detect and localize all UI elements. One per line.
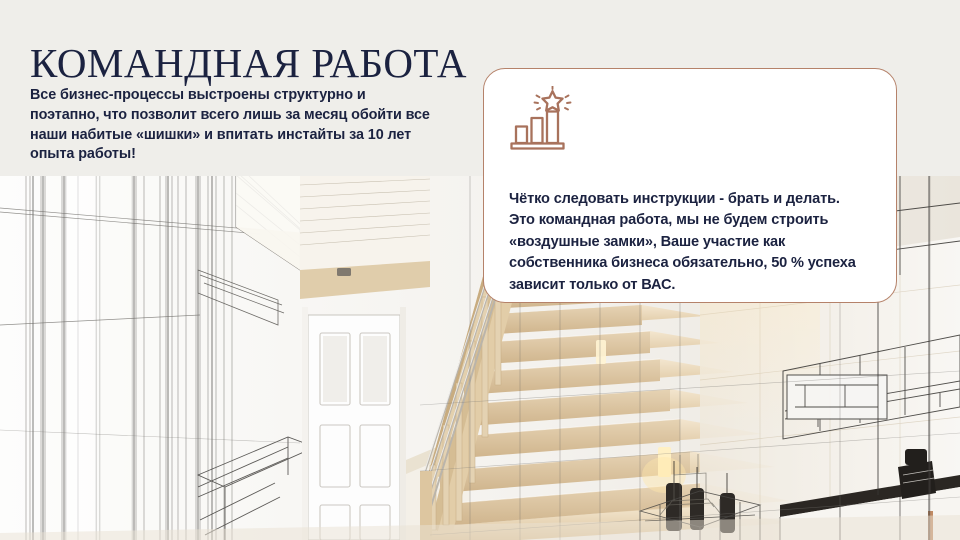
info-card: Чётко следовать инструкции - брать и дел… [483,68,897,303]
slide-root: КОМАНДНАЯ РАБОТА Все бизнес-процессы выс… [0,0,960,540]
lead-paragraph: Все бизнес-процессы выстроены структурно… [30,86,430,164]
growth-bar-chart-star-icon [507,86,579,154]
card-body-text: Чётко следовать инструкции - брать и дел… [509,189,869,297]
page-title: КОМАНДНАЯ РАБОТА [30,41,467,86]
